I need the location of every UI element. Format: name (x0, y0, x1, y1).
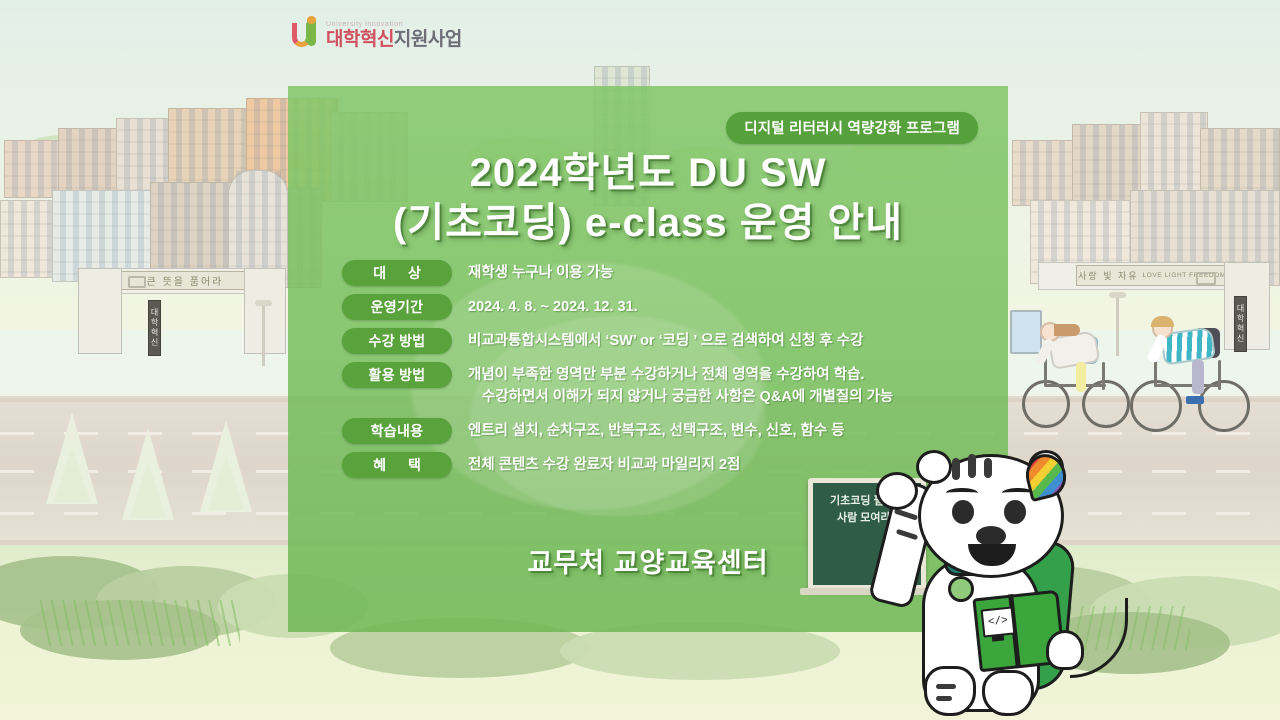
mascot-head-stripe-1 (952, 458, 960, 480)
bicycle-frame (1044, 384, 1106, 387)
uj-monogram-icon (292, 19, 320, 51)
mascot-nose (976, 526, 1006, 546)
info-value-usage-line1: 개념이 부족한 영역만 부분 수강하거나 전체 영역을 수강하여 학습. (468, 367, 864, 383)
bicycle-pedal (1186, 396, 1204, 404)
cyclist-ponytail (1054, 324, 1080, 336)
gate-banner-left: 대학혁신 (148, 300, 161, 356)
info-rows: 대상 재학생 누구나 이용 가능 운영기간 2024. 4. 8. ~ 2024… (342, 260, 986, 486)
info-label-period: 운영기간 (342, 294, 452, 320)
info-value-enroll-method: 비교과통합시스템에서 ‘SW’ or ‘코딩 ’ 으로 검색하여 신청 후 수강 (452, 328, 986, 352)
program-badge: 디지털 리터러시 역량강화 프로그램 (726, 112, 978, 144)
tiger-mascot: </> (900, 448, 1140, 720)
building-far-left-2 (58, 128, 120, 198)
conifer-tree-left-1 (46, 412, 98, 504)
gate-emblem-right (1196, 272, 1216, 285)
cyclist-male (1128, 318, 1264, 434)
info-label-benefit-a: 혜 (373, 455, 386, 475)
mascot-raised-hand (876, 472, 918, 510)
mascot-brow-left (946, 488, 978, 498)
mascot-leg-left (924, 666, 976, 716)
info-label-curriculum: 학습내용 (342, 418, 452, 444)
info-row-target: 대상 재학생 누구나 이용 가능 (342, 260, 986, 286)
mascot-medal (948, 576, 974, 602)
bicycle-wheel-rear (1198, 380, 1250, 432)
bicycle-frame (1154, 384, 1220, 387)
mascot-eye-right (1004, 500, 1026, 524)
info-value-period: 2024. 4. 8. ~ 2024. 12. 31. (452, 294, 986, 318)
info-label-target: 대상 (342, 260, 452, 286)
cyclist-hair (1151, 316, 1174, 327)
info-label-target-a: 대 (373, 263, 386, 283)
mascot-leg-stripe-2 (936, 696, 952, 701)
mascot-head-stripe-2 (968, 454, 976, 478)
bicycle-frame-seat-tube (1102, 362, 1105, 390)
gate-sign-right-korean: 사랑 빛 자유 (1078, 269, 1138, 282)
logo-english-tagline: University innovation (326, 21, 462, 28)
info-value-curriculum: 엔트리 설치, 순차구조, 반복구조, 선택구조, 변수, 신호, 함수 등 (452, 418, 986, 442)
info-label-enroll-method: 수강 방법 (342, 328, 452, 354)
info-value-usage-method: 개념이 부족한 영역만 부분 수강하거나 전체 영역을 수강하여 학습. 수강하… (452, 362, 986, 408)
gate-pillar-left-inner (244, 268, 286, 354)
bicycle-frame-seat-tube (1218, 360, 1221, 390)
page-title-line1: 2024학년도 DU SW (288, 148, 1008, 198)
info-row-enroll-method: 수강 방법 비교과통합시스템에서 ‘SW’ or ‘코딩 ’ 으로 검색하여 신… (342, 328, 986, 354)
info-value-target: 재학생 누구나 이용 가능 (452, 260, 986, 284)
mascot-holding-hand (1046, 630, 1084, 670)
mascot-ear-left (916, 450, 952, 484)
university-innovation-logo: University innovation 대학혁신지원사업 (292, 14, 462, 56)
building-right-1 (1012, 140, 1078, 206)
logo-korean-part2: 지원사업 (394, 29, 462, 50)
info-label-usage-method: 활용 방법 (342, 362, 452, 388)
bicycle-wheel-front (1130, 380, 1182, 432)
page-title: 2024학년도 DU SW (기초코딩) e-class 운영 안내 (288, 148, 1008, 248)
mascot-leg-right (982, 670, 1034, 716)
lamp-post-left (262, 300, 265, 366)
mascot-eye-left (952, 500, 974, 524)
logo-text-block: University innovation 대학혁신지원사업 (326, 21, 462, 49)
cyclist-leg (1076, 362, 1086, 392)
gate-emblem-left (128, 276, 146, 288)
logo-korean-name: 대학혁신지원사업 (326, 30, 462, 49)
conifer-tree-left-3 (200, 420, 252, 512)
info-row-period: 운영기간 2024. 4. 8. ~ 2024. 12. 31. (342, 294, 986, 320)
mascot-head-stripe-3 (984, 458, 992, 478)
gate-pillar-left-outer (78, 268, 122, 354)
info-label-benefit: 혜택 (342, 452, 452, 478)
grass-blades-left (40, 600, 240, 646)
info-value-usage-line2: 수강하면서 이해가 되지 않거나 궁금한 사항은 Q&A에 개별질의 가능 (468, 386, 986, 408)
bicycle-wheel-rear (1082, 380, 1130, 428)
info-label-benefit-b: 택 (408, 455, 421, 475)
cyclist-leg (1192, 360, 1204, 394)
logo-korean-part1: 대학혁신 (326, 29, 394, 50)
info-row-curriculum: 학습내용 엔트리 설치, 순차구조, 반복구조, 선택구조, 변수, 신호, 함… (342, 418, 986, 444)
info-label-target-b: 상 (408, 263, 421, 283)
page-title-line2: (기초코딩) e-class 운영 안내 (288, 198, 1008, 248)
book-computer-icon: </> (981, 606, 1016, 637)
info-row-usage-method: 활용 방법 개념이 부족한 영역만 부분 수강하거나 전체 영역을 수강하여 학… (342, 362, 986, 408)
conifer-tree-left-2 (122, 428, 174, 520)
bicycle-wheel-front (1022, 380, 1070, 428)
mascot-leg-stripe-1 (936, 684, 956, 689)
logo-dot-shape (307, 16, 316, 24)
